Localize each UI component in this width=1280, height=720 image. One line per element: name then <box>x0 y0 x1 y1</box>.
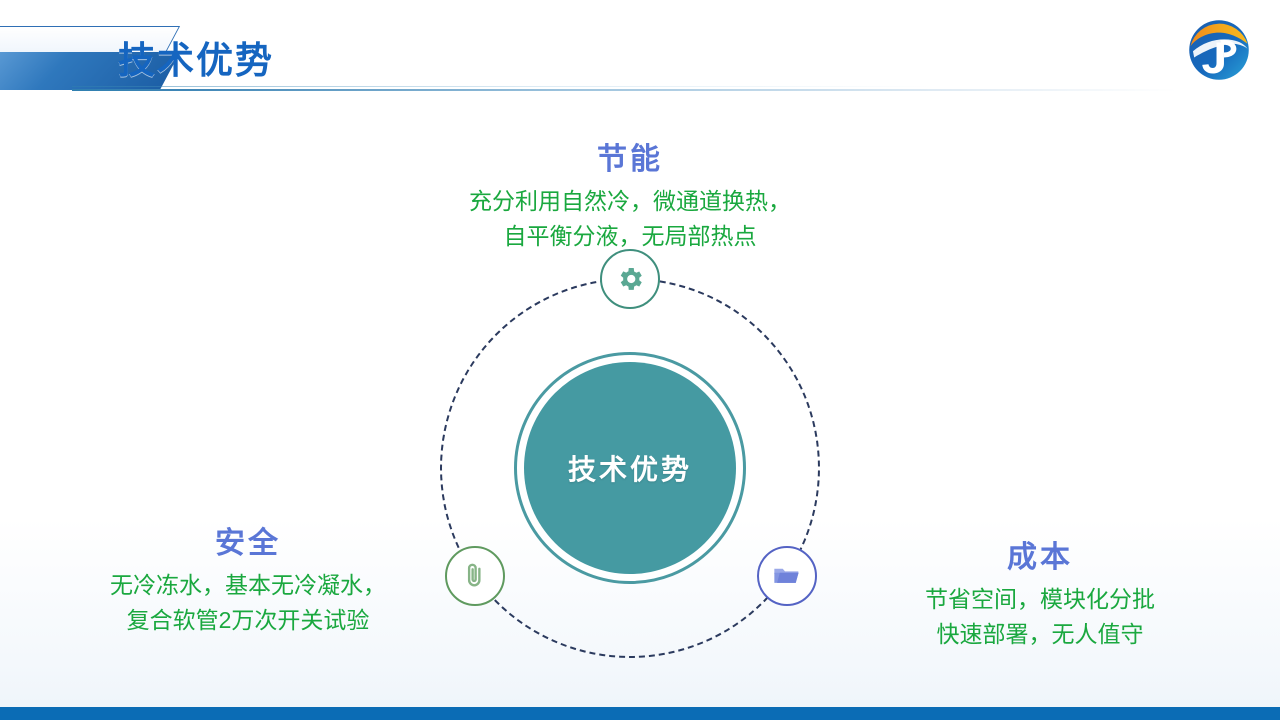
slide-root: 技术优势 <box>0 0 1280 720</box>
slide-header: 技术优势 <box>0 0 1280 96</box>
text-block-safety: 安全 无冷冻水，基本无冷凝水， 复合软管2万次开关试验 <box>38 518 458 638</box>
cost-heading: 成本 <box>830 532 1250 576</box>
core-label: 技术优势 <box>568 448 692 488</box>
paperclip-icon <box>460 561 490 591</box>
technology-advantage-diagram: 技术优势 <box>400 255 860 645</box>
header-divider-thin <box>72 86 932 87</box>
company-logo <box>1188 19 1250 81</box>
safety-body: 无冷冻水，基本无冷凝水， 复合软管2万次开关试验 <box>38 568 458 638</box>
folder-icon <box>771 560 803 592</box>
header-divider <box>72 89 1177 91</box>
energy-saving-body: 充分利用自然冷，微通道换热， 自平衡分液，无局部热点 <box>330 184 930 254</box>
page-title: 技术优势 <box>118 30 274 84</box>
node-energy-saving[interactable] <box>600 249 660 309</box>
footer-bar <box>0 707 1280 720</box>
text-block-cost: 成本 节省空间，模块化分批 快速部署，无人值守 <box>830 532 1250 652</box>
energy-saving-heading: 节能 <box>330 134 930 178</box>
cost-body: 节省空间，模块化分批 快速部署，无人值守 <box>830 582 1250 652</box>
core-circle: 技术优势 <box>524 362 736 574</box>
safety-heading: 安全 <box>38 518 458 562</box>
gear-icon <box>615 264 645 294</box>
text-block-energy-saving: 节能 充分利用自然冷，微通道换热， 自平衡分液，无局部热点 <box>330 134 930 254</box>
node-cost[interactable] <box>757 546 817 606</box>
